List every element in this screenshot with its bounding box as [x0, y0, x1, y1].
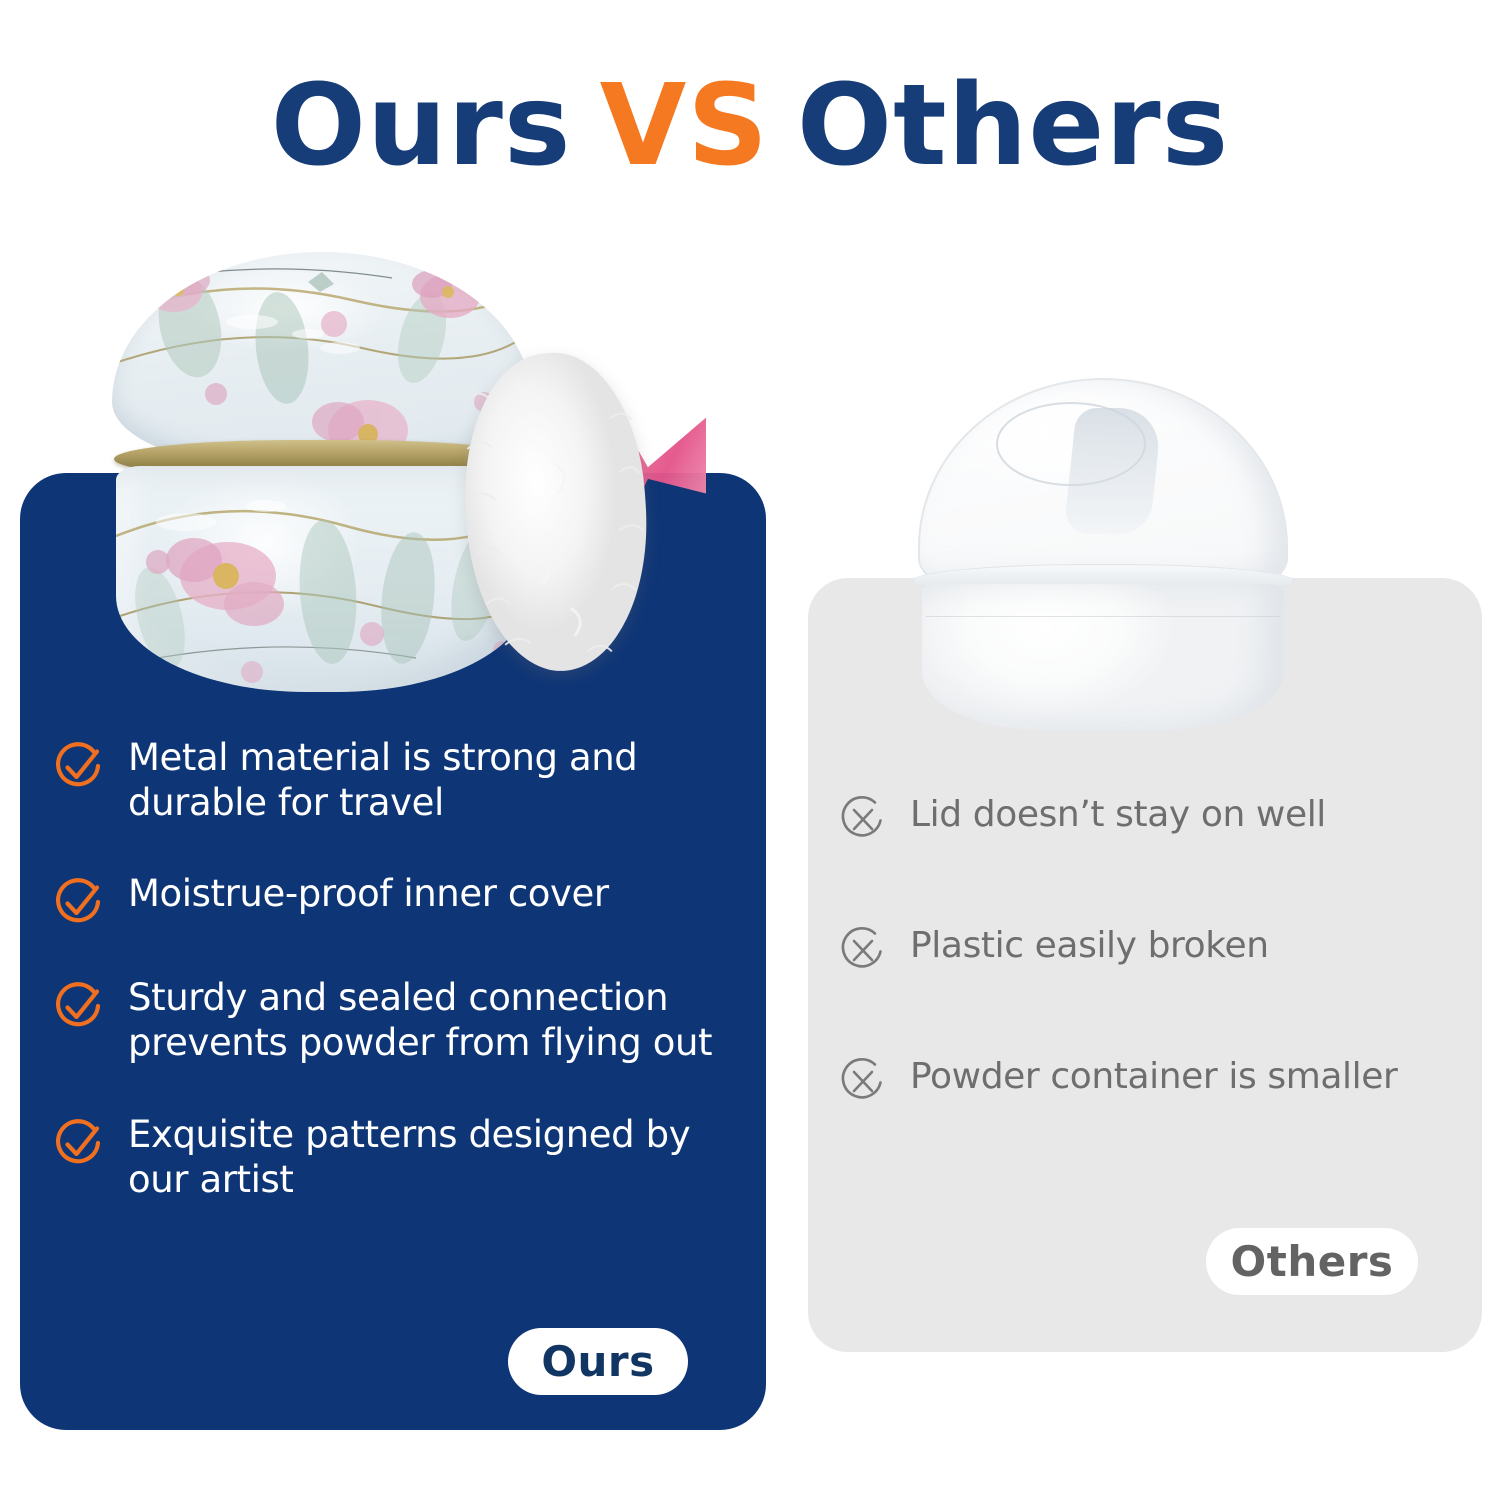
list-item: Exquisite patterns designed by our artis… — [52, 1112, 752, 1202]
feature-label: Exquisite patterns designed by our artis… — [128, 1112, 752, 1202]
check-circle-icon — [52, 979, 106, 1033]
puff-fluffy-pad — [455, 347, 657, 677]
clear-dome-lid — [918, 378, 1288, 586]
x-circle-icon — [838, 926, 888, 976]
dome-reflection — [1063, 408, 1162, 534]
ours-feature-list: Metal material is strong and durable for… — [52, 735, 752, 1248]
feature-label: Moistrue-proof inner cover — [128, 871, 609, 916]
list-item: Powder container is smaller — [838, 1055, 1478, 1107]
feature-label: Powder container is smaller — [910, 1055, 1397, 1099]
page-title: OursVSOthers — [0, 62, 1500, 191]
list-item: Sturdy and sealed connection prevents po… — [52, 975, 752, 1065]
feature-label: Lid doesn’t stay on well — [910, 793, 1326, 837]
list-item: Plastic easily broken — [838, 924, 1478, 976]
list-item: Lid doesn’t stay on well — [838, 793, 1478, 845]
powder-puff-image — [466, 345, 696, 675]
x-circle-icon — [838, 795, 888, 845]
others-badge: Others — [1206, 1228, 1418, 1295]
feature-label: Plastic easily broken — [910, 924, 1269, 968]
puff-fur-texture — [455, 347, 657, 677]
container-base-seam — [926, 616, 1280, 617]
comparison-infographic: OursVSOthers — [0, 0, 1500, 1500]
list-item: Metal material is strong and durable for… — [52, 735, 752, 825]
check-circle-icon — [52, 1116, 106, 1170]
others-feature-list: Lid doesn’t stay on well Plastic easily … — [838, 793, 1478, 1186]
title-ours-word: Ours — [271, 61, 572, 191]
ours-badge: Ours — [508, 1328, 688, 1395]
x-circle-icon — [838, 1057, 888, 1107]
title-vs-word: VS — [600, 61, 769, 191]
container-base — [922, 584, 1284, 730]
feature-label: Metal material is strong and durable for… — [128, 735, 752, 825]
plastic-powder-container-image — [900, 378, 1306, 730]
check-circle-icon — [52, 875, 106, 929]
title-others-word: Others — [797, 61, 1229, 191]
check-circle-icon — [52, 739, 106, 793]
list-item: Moistrue-proof inner cover — [52, 871, 752, 929]
feature-label: Sturdy and sealed connection prevents po… — [128, 975, 752, 1065]
